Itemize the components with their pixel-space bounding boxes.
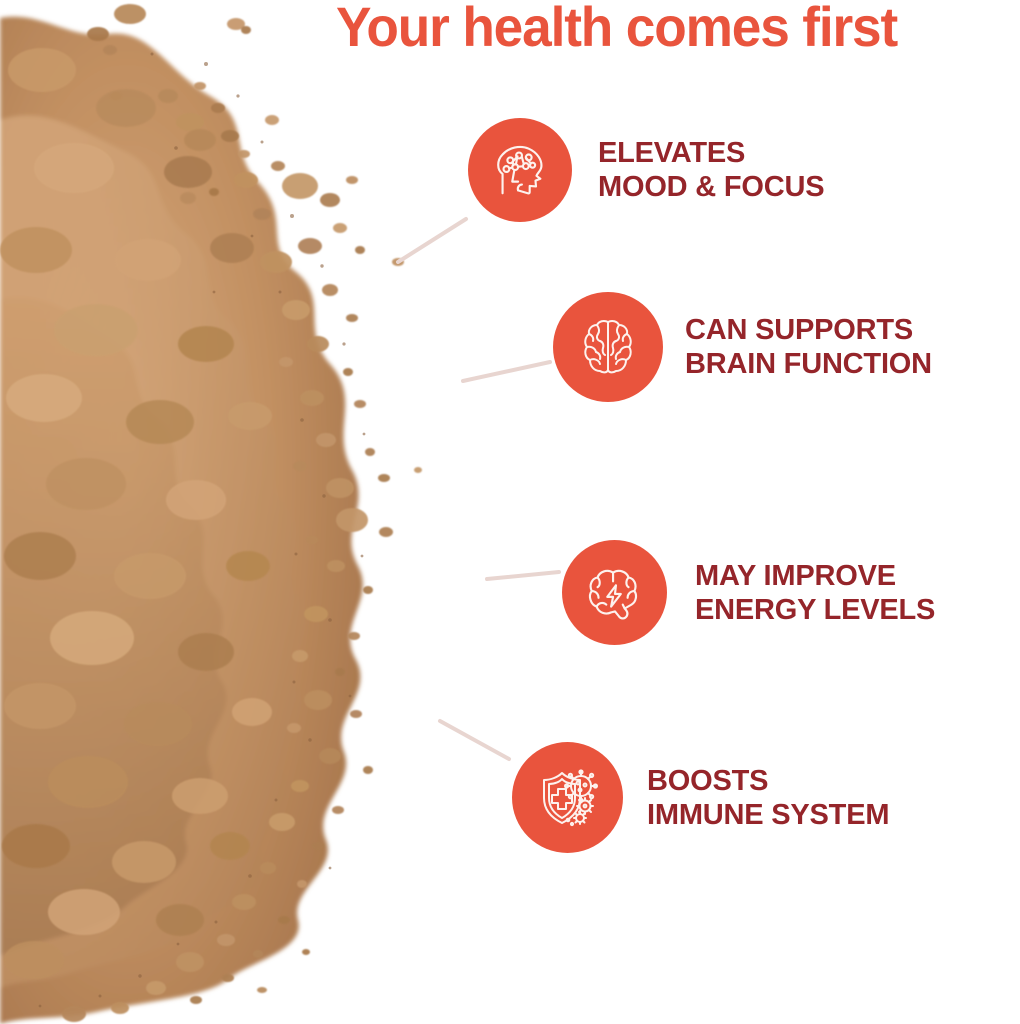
benefit-label-line2: IMMUNE SYSTEM <box>647 798 889 832</box>
benefit-label-line1: BOOSTS <box>647 765 768 797</box>
connector-line-2 <box>463 362 550 381</box>
benefit-label-line2: BRAIN FUNCTION <box>685 347 932 381</box>
benefit-item-supports-brain-function: CAN SUPPORTS BRAIN FUNCTION <box>553 292 932 402</box>
benefit-label: CAN SUPPORTS BRAIN FUNCTION <box>685 313 932 381</box>
connector-line-3 <box>487 572 559 579</box>
benefit-label-line1: ELEVATES <box>598 137 745 169</box>
benefit-item-improve-energy-levels: MAY IMPROVE ENERGY LEVELS <box>562 540 935 645</box>
brain-lightning-bolt-icon <box>562 540 667 645</box>
benefit-item-elevates-mood-focus: ELEVATES MOOD & FOCUS <box>468 118 824 222</box>
benefit-label: ELEVATES MOOD & FOCUS <box>598 136 824 204</box>
benefit-label: MAY IMPROVE ENERGY LEVELS <box>695 559 935 627</box>
benefit-item-boosts-immune-system: BOOSTS IMMUNE SYSTEM <box>512 742 889 853</box>
product-benefits-infographic: Your health comes first <box>0 0 1020 1024</box>
head-neural-network-icon <box>468 118 572 222</box>
brain-top-view-icon <box>553 292 663 402</box>
benefit-label-line1: MAY IMPROVE <box>695 560 896 592</box>
benefit-label: BOOSTS IMMUNE SYSTEM <box>647 764 889 832</box>
benefit-label-line2: ENERGY LEVELS <box>695 593 935 627</box>
benefit-label-line1: CAN SUPPORTS <box>685 314 913 346</box>
benefit-label-line2: MOOD & FOCUS <box>598 170 824 204</box>
powder-pile-photo <box>0 0 470 1024</box>
shield-medical-cross-virus-icon <box>512 742 623 853</box>
page-title: Your health comes first <box>336 0 992 57</box>
